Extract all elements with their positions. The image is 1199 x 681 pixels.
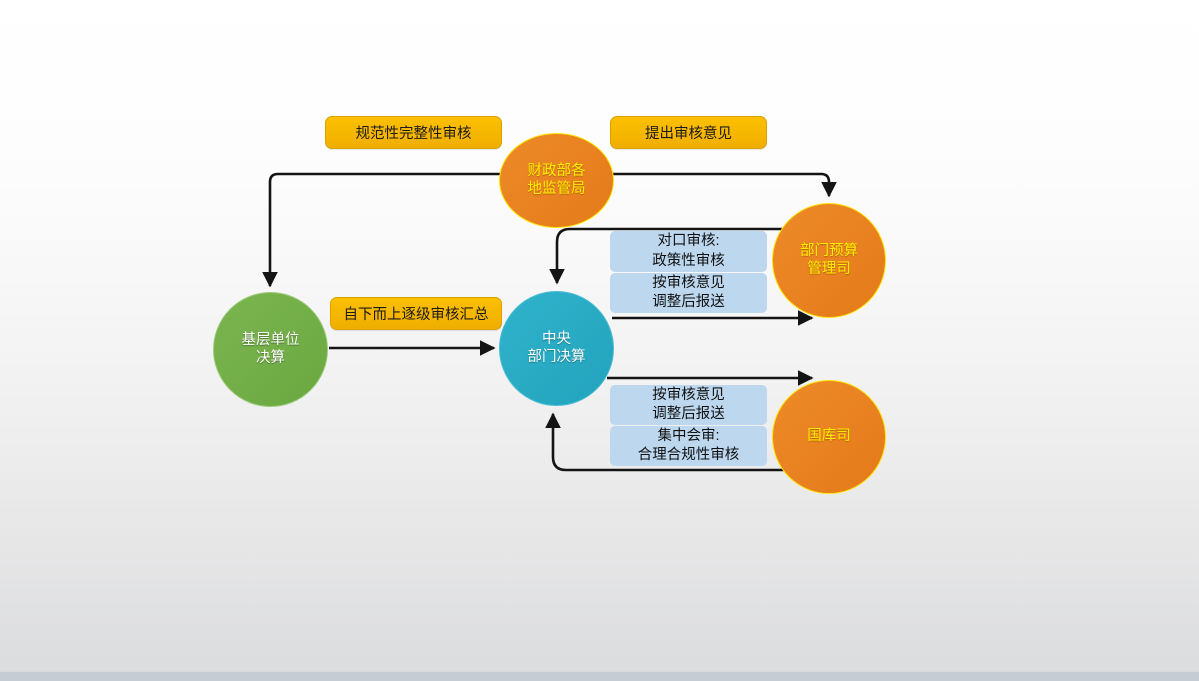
label-bottom-up-aggregate[interactable]: 自下而上逐级审核汇总: [330, 297, 502, 330]
diagram-canvas: 规范性完整性审核 提出审核意见 自下而上逐级审核汇总 对口审核: 政策性审核 按…: [0, 0, 1199, 681]
box-counterpart-review-text: 对口审核: 政策性审核: [652, 232, 725, 271]
box-joint-review-text: 集中会审: 合理合规性审核: [638, 427, 740, 466]
box-adjust-resubmit-budget-text: 按审核意见 调整后报送: [652, 274, 725, 313]
node-central-department-settlement-label: 中央 部门决算: [528, 331, 586, 366]
connector-mof-to-grassroots: [270, 174, 500, 286]
label-bottom-up-aggregate-text: 自下而上逐级审核汇总: [344, 303, 489, 324]
node-mof-local-bureau[interactable]: 财政部各 地监管局: [499, 133, 614, 228]
box-counterpart-review[interactable]: 对口审核: 政策性审核: [610, 231, 767, 272]
box-adjust-resubmit-budget[interactable]: 按审核意见 调整后报送: [610, 273, 767, 313]
label-normative-review[interactable]: 规范性完整性审核: [325, 116, 502, 149]
node-central-department-settlement[interactable]: 中央 部门决算: [499, 291, 614, 406]
connector-mof-to-budget-dept: [613, 174, 829, 196]
node-department-budget-management-label: 部门预算 管理司: [800, 243, 858, 278]
label-issue-review-opinion-text: 提出审核意见: [645, 122, 732, 143]
label-issue-review-opinion[interactable]: 提出审核意见: [610, 116, 767, 149]
node-treasury-department[interactable]: 国库司: [772, 380, 886, 494]
node-treasury-department-label: 国库司: [807, 428, 851, 446]
box-adjust-resubmit-treasury[interactable]: 按审核意见 调整后报送: [610, 385, 767, 425]
node-department-budget-management[interactable]: 部门预算 管理司: [772, 203, 886, 318]
node-mof-local-bureau-label: 财政部各 地监管局: [528, 163, 586, 198]
label-normative-review-text: 规范性完整性审核: [356, 122, 472, 143]
node-grassroots-settlement-label: 基层单位 决算: [242, 332, 300, 367]
box-adjust-resubmit-treasury-text: 按审核意见 调整后报送: [652, 386, 725, 425]
node-grassroots-settlement[interactable]: 基层单位 决算: [213, 292, 328, 407]
box-joint-review[interactable]: 集中会审: 合理合规性审核: [610, 426, 767, 466]
